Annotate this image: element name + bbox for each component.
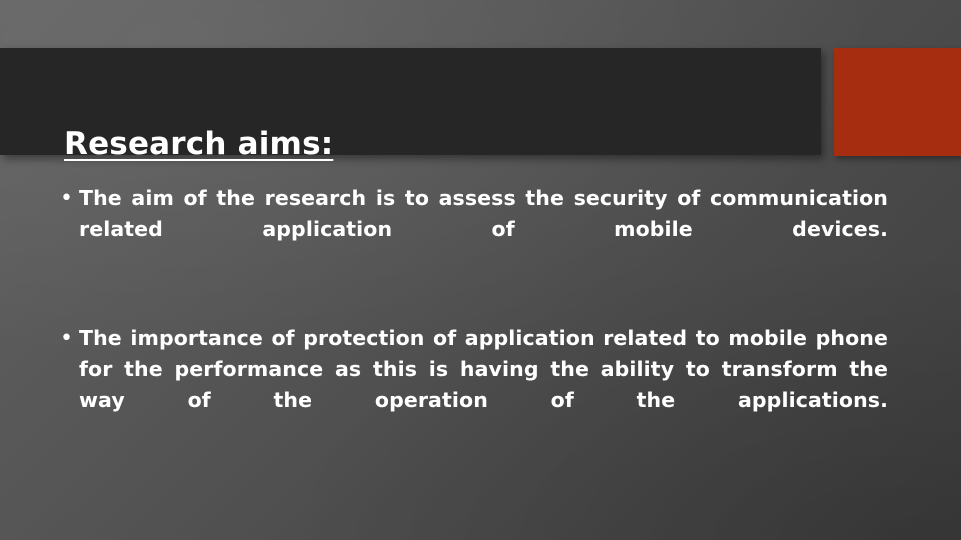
presentation-slide: Research aims: • The aim of the research…: [0, 0, 961, 540]
page-title: Research aims:: [64, 128, 333, 161]
bullet-item-2: • The importance of protection of applic…: [60, 323, 888, 447]
bullet-item-1: • The aim of the research is to assess t…: [60, 183, 888, 276]
bullet-spacer: [60, 276, 888, 323]
bullet-point-icon: •: [60, 183, 79, 214]
bullet-item-1-text: The aim of the research is to assess the…: [79, 183, 888, 276]
bullet-item-2-text: The importance of protection of applicat…: [79, 323, 888, 447]
title-bar: Research aims:: [0, 48, 821, 155]
slide-body: • The aim of the research is to assess t…: [60, 183, 888, 447]
bullet-point-icon: •: [60, 323, 79, 354]
orange-accent-block: [834, 48, 961, 156]
